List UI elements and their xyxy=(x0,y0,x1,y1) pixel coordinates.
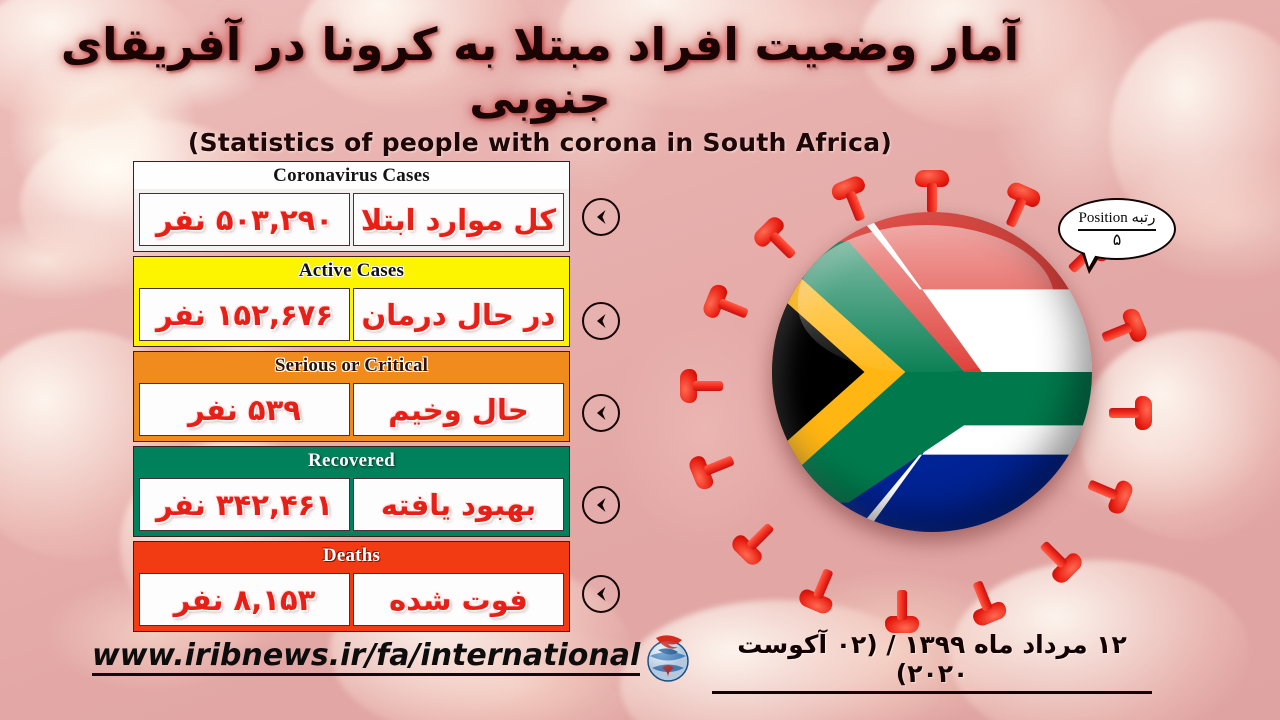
stat-value-cell: ۸,۱۵۳ نفر xyxy=(139,573,350,626)
virus-spike xyxy=(1083,470,1148,520)
virus-spike xyxy=(1032,533,1094,595)
stat-label-cell: فوت شده xyxy=(353,573,564,626)
position-label: رتبه Position xyxy=(1058,208,1176,227)
virus-spike xyxy=(917,155,947,213)
virus-spike xyxy=(688,278,753,328)
stat-label-cell: کل موارد ابتلا xyxy=(353,193,564,246)
position-badge: رتبه Position ۵ xyxy=(1058,198,1176,260)
stat-box-serious-or-critical[interactable]: Serious or Critical حال وخیم ۵۳۹ نفر xyxy=(133,351,570,442)
arrow-left-icon[interactable] xyxy=(582,302,620,340)
page-title: آمار وضعیت افراد مبتلا به کرونا در آفریق… xyxy=(0,18,1080,157)
flag-graphic xyxy=(772,212,1092,532)
irib-globe-logo-icon xyxy=(640,628,698,686)
statistics-list: Coronavirus Cases کل موارد ابتلا ۵۰۳,۲۹۰… xyxy=(133,161,570,636)
virus-spike xyxy=(674,446,739,496)
arrow-left-icon[interactable] xyxy=(582,486,620,524)
virus-spike xyxy=(1097,302,1162,352)
website-url[interactable]: www.iribnews.ir/fa/international xyxy=(92,639,640,676)
stat-box-deaths[interactable]: Deaths فوت شده ۸,۱۵۳ نفر xyxy=(133,541,570,632)
footer-branding: www.iribnews.ir/fa/international xyxy=(84,628,698,686)
bubble-tail-inner xyxy=(1083,247,1100,267)
position-value: ۵ xyxy=(1058,230,1176,249)
stat-value-cell: ۳۴۲,۴۶۱ نفر xyxy=(139,478,350,531)
arrow-left-icon[interactable] xyxy=(582,198,620,236)
footer-date: ۱۲ مرداد ماه ۱۳۹۹ / (۰۲ آکوست ۲۰۲۰) xyxy=(712,630,1152,694)
stat-head-label: Coronavirus Cases xyxy=(134,162,569,189)
stat-label-cell: بهبود یافته xyxy=(353,478,564,531)
stat-box-recovered[interactable]: Recovered بهبود یافته ۳۴۲,۴۶۱ نفر xyxy=(133,446,570,537)
arrow-left-icon[interactable] xyxy=(582,575,620,613)
date-underline xyxy=(712,691,1152,694)
date-text: ۱۲ مرداد ماه ۱۳۹۹ / (۰۲ آکوست ۲۰۲۰) xyxy=(712,630,1152,688)
virus-spike xyxy=(1109,398,1167,428)
virus-spike xyxy=(793,564,843,629)
title-farsi: آمار وضعیت افراد مبتلا به کرونا در آفریق… xyxy=(0,18,1080,124)
stat-value-cell: ۵۳۹ نفر xyxy=(139,383,350,436)
stat-value-cell: ۱۵۲,۶۷۶ نفر xyxy=(139,288,350,341)
stat-label-cell: در حال درمان xyxy=(353,288,564,341)
virus-spike xyxy=(665,371,723,401)
stat-head-label: Active Cases xyxy=(134,257,569,284)
stat-head-label: Recovered xyxy=(134,447,569,474)
stat-box-coronavirus-cases[interactable]: Coronavirus Cases کل موارد ابتلا ۵۰۳,۲۹۰… xyxy=(133,161,570,252)
stat-value-cell: ۵۰۳,۲۹۰ نفر xyxy=(139,193,350,246)
flag-svg xyxy=(772,212,1092,532)
stat-head-label: Serious or Critical xyxy=(134,352,569,379)
stat-head-label: Deaths xyxy=(134,542,569,569)
south-africa-flag-sphere xyxy=(772,212,1092,532)
stat-label-cell: حال وخیم xyxy=(353,383,564,436)
stat-box-active-cases[interactable]: Active Cases در حال درمان ۱۵۲,۶۷۶ نفر xyxy=(133,256,570,347)
infographic-canvas: آمار وضعیت افراد مبتلا به کرونا در آفریق… xyxy=(0,0,1280,720)
arrow-left-icon[interactable] xyxy=(582,394,620,432)
